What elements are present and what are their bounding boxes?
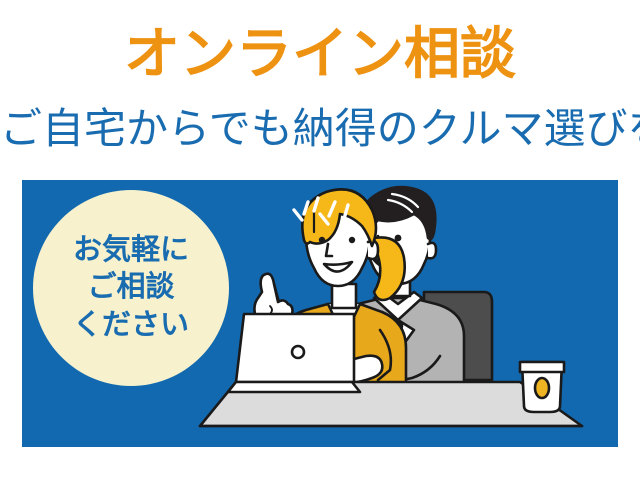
woman-neck (332, 284, 356, 308)
man-ear (428, 243, 436, 258)
online-consultation-banner: オンライン相談 ご自宅からでも納得のクルマ選びを (0, 0, 640, 480)
laptop-logo (292, 346, 304, 358)
illustration-panel: お気軽に ご相談 ください (22, 180, 618, 447)
coffee-cup-lid (520, 362, 564, 372)
page-title: オンライン相談 (0, 26, 640, 82)
badge-line-1: お気軽に (73, 232, 189, 269)
woman-eye-right (349, 237, 355, 243)
laptop-base (228, 382, 360, 392)
status-badge: お気軽に ご相談 ください (33, 190, 229, 386)
coffee-cup-logo (535, 378, 549, 398)
woman-eye-left (319, 237, 325, 243)
page-subtitle: ご自宅からでも納得のクルマ選びを (0, 108, 640, 150)
badge-line-2: ご相談 (87, 269, 174, 306)
badge-line-3: ください (73, 307, 189, 344)
